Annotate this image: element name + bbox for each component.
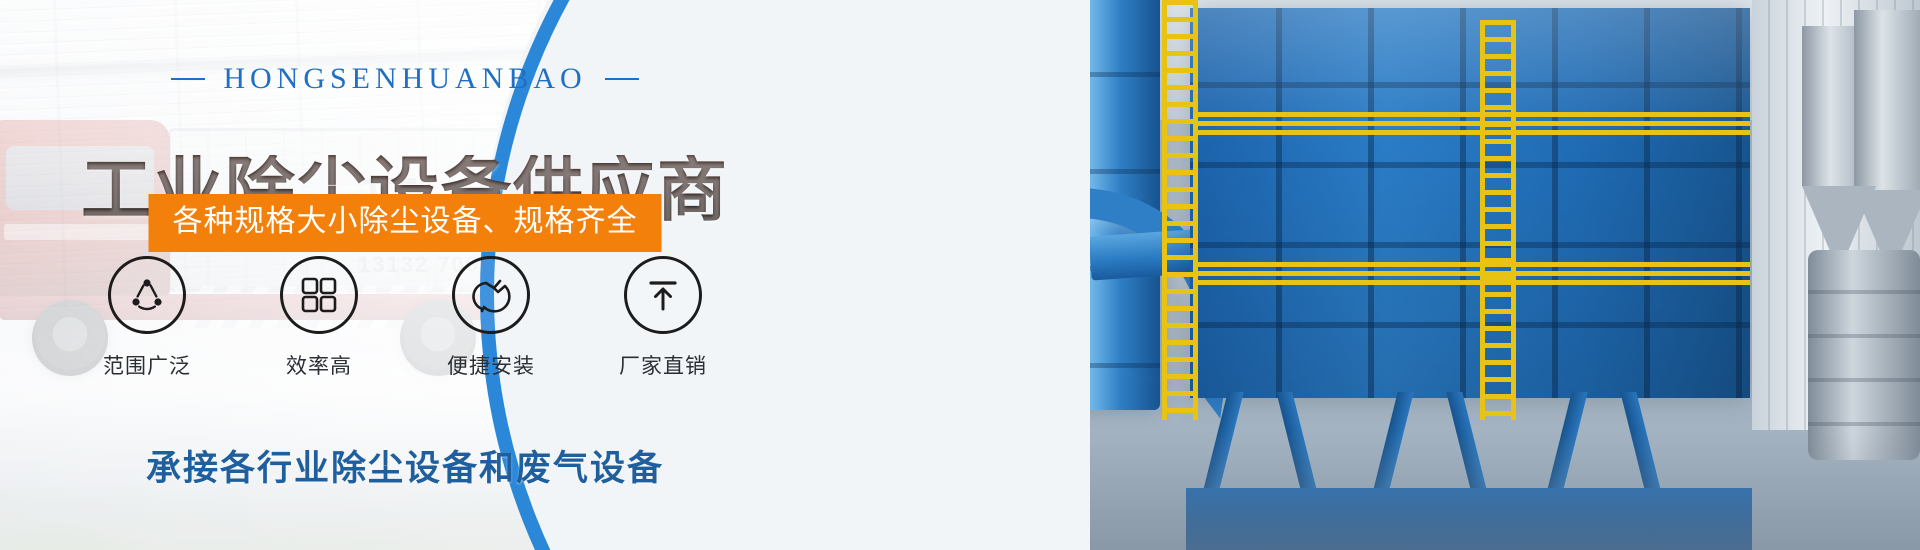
arrow-up-bar-icon: [624, 256, 702, 334]
brand-pinyin-eyebrow: HONGSENHUANBAO: [0, 62, 810, 96]
dash-right-icon: [605, 78, 639, 80]
grid-squares-icon: [280, 256, 358, 334]
feature-item-efficiency[interactable]: 效率高: [264, 256, 374, 380]
feature-item-range[interactable]: 范围广泛: [92, 256, 202, 380]
feature-label: 效率高: [286, 350, 352, 380]
wrench-cycle-icon: [452, 256, 530, 334]
subtitle-orange-bar: 各种规格大小除尘设备、规格齐全: [149, 194, 662, 252]
brand-pinyin-text: HONGSENHUANBAO: [223, 62, 586, 96]
hero-banner: 环 保 13132 7061: [0, 0, 1920, 550]
feature-label: 范围广泛: [103, 350, 191, 380]
feature-list: 范围广泛 效率高: [0, 256, 810, 380]
share-network-icon: [108, 256, 186, 334]
tagline: 承接各行业除尘设备和废气设备: [0, 440, 810, 491]
feature-label: 厂家直销: [619, 350, 707, 380]
feature-item-factory-direct[interactable]: 厂家直销: [608, 256, 718, 380]
feature-label: 便捷安装: [447, 350, 535, 380]
dash-left-icon: [171, 78, 205, 80]
banner-content: HONGSENHUANBAO 工业除尘设备供应商 各种规格大小除尘设备、规格齐全: [0, 0, 810, 550]
feature-item-installation[interactable]: 便捷安装: [436, 256, 546, 380]
